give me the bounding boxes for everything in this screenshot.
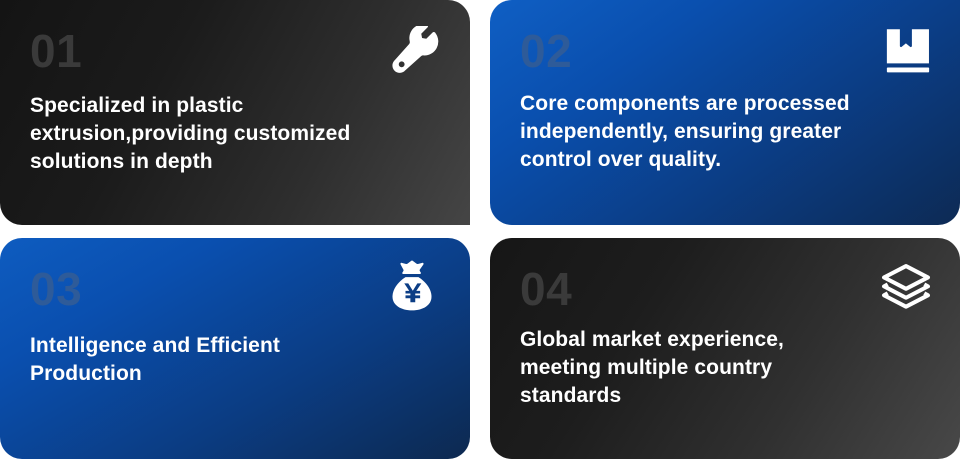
feature-card-03[interactable]: 03 Intelligence and Efficient Production — [0, 238, 470, 459]
card-number-03: 03 — [30, 266, 444, 312]
card-number-04: 04 — [520, 266, 934, 312]
card-text-04: Global market experience, meeting multip… — [520, 326, 934, 410]
card-text-03: Intelligence and Efficient Production — [30, 332, 444, 388]
feature-card-02[interactable]: 02 Core components are processed indepen… — [490, 0, 960, 225]
card-number-01: 01 — [30, 28, 444, 74]
feature-card-04[interactable]: 04 Global market experience, meeting mul… — [490, 238, 960, 459]
card-text-01: Specialized in plastic extrusion,providi… — [30, 92, 444, 176]
card-text-02: Core components are processed independen… — [520, 90, 934, 174]
feature-card-grid: 01 Specialized in plastic extrusion,prov… — [0, 0, 960, 459]
feature-card-01[interactable]: 01 Specialized in plastic extrusion,prov… — [0, 0, 470, 225]
card-number-02: 02 — [520, 28, 934, 74]
